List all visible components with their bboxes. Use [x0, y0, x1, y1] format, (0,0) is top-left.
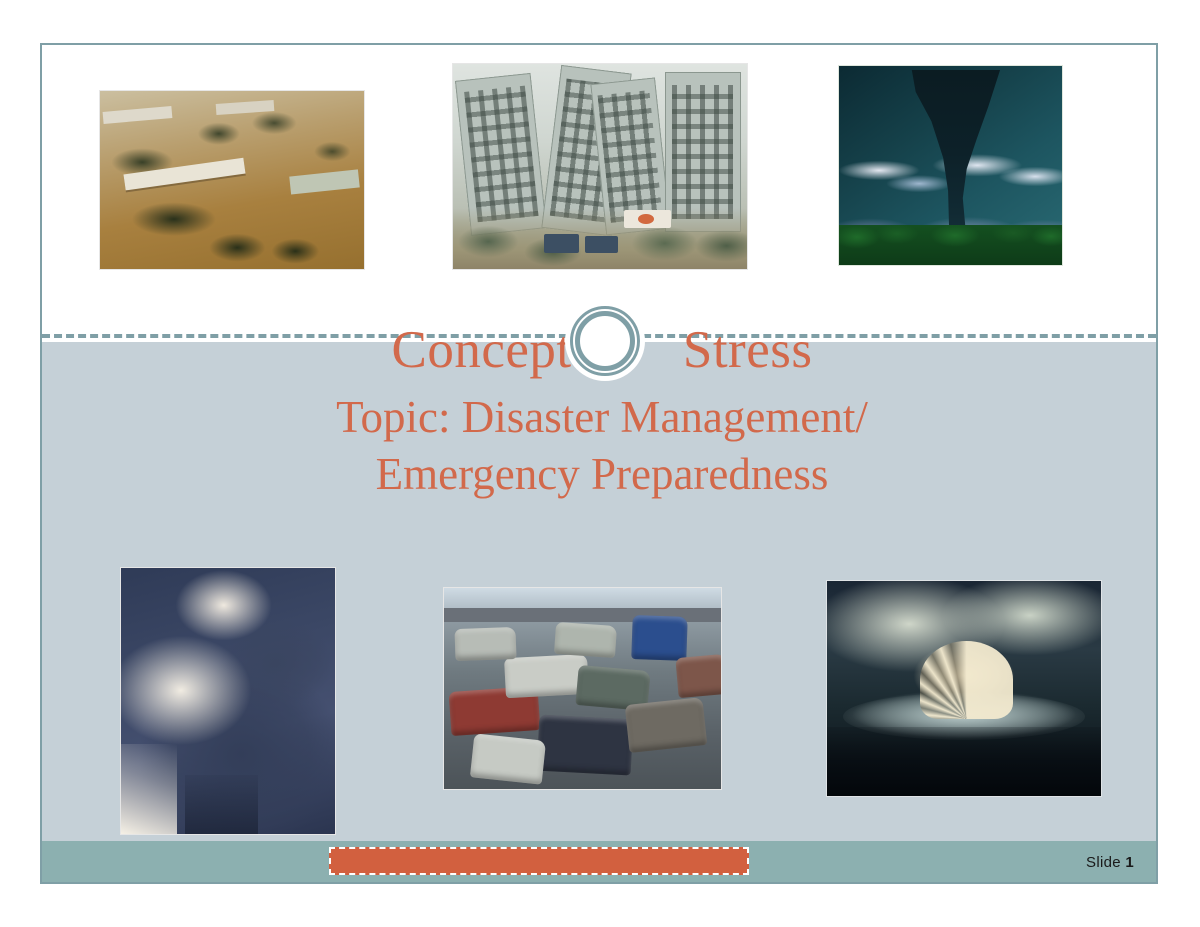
wrecked-car [455, 627, 517, 661]
rescue-vehicle [585, 236, 617, 252]
tornado-photo-content [839, 66, 1062, 265]
slide-number: Slide 1 [1086, 854, 1134, 871]
earthquake-photo[interactable] [452, 63, 748, 270]
eruption-plume [920, 641, 1013, 718]
topic-value-continued: Emergency Preparedness [376, 449, 829, 499]
flood-photo[interactable] [99, 90, 365, 270]
dark-foreground [827, 727, 1101, 796]
flood-rooftop [102, 106, 171, 124]
flood-rooftop [123, 157, 245, 190]
rescue-vehicle [544, 234, 579, 252]
banner-marker [624, 210, 671, 228]
wrecked-car [625, 697, 707, 753]
treeline-ground [839, 225, 1062, 265]
presentation-slide: Concept:Stress Topic: Disaster Managemen… [40, 43, 1158, 884]
slide-number-value: 1 [1125, 854, 1134, 871]
tornado-photo[interactable] [838, 65, 1063, 266]
smoke-plume-photo-content [121, 568, 335, 834]
topic-value: Disaster Management/ [462, 392, 868, 442]
wrecked-car [554, 622, 617, 658]
concept-value: Stress [683, 321, 813, 379]
slide-number-label: Slide [1086, 854, 1121, 871]
car-pileup-photo-content [444, 588, 721, 789]
wrecked-car [675, 654, 722, 698]
light-burst [121, 744, 177, 834]
flood-rooftop [216, 100, 275, 115]
ring-inner-stroke [575, 311, 635, 371]
flood-rooftop [289, 169, 359, 194]
slide-footer-bar: Slide 1 [42, 841, 1156, 882]
earthquake-photo-content [453, 64, 747, 269]
topic-line-continued: Emergency Preparedness [152, 449, 1052, 499]
volcano-photo-content [827, 581, 1101, 796]
tower-silhouette [185, 775, 258, 834]
car-pileup-photo[interactable] [443, 587, 722, 790]
topic-line: Topic: Disaster Management/ [152, 392, 1052, 442]
volcano-photo[interactable] [826, 580, 1102, 797]
topic-label: Topic: [336, 392, 450, 442]
concept-label: Concept: [392, 321, 587, 379]
wrecked-car [470, 733, 546, 785]
circle-ring-icon [565, 301, 645, 381]
wrecked-car [537, 714, 634, 775]
progress-bar[interactable] [329, 847, 749, 875]
wrecked-car [632, 615, 689, 661]
smoke-plume-photo[interactable] [120, 567, 336, 835]
flood-photo-content [100, 91, 364, 269]
